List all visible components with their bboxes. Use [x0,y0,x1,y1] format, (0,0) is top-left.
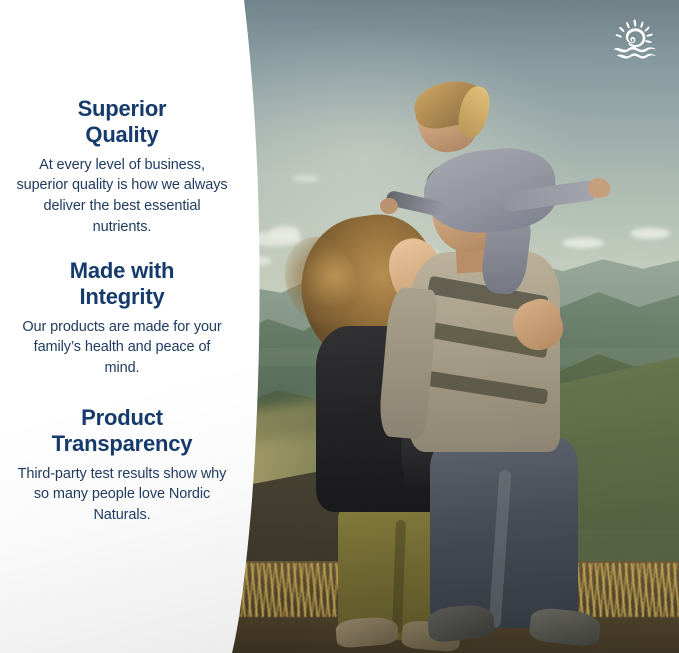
value-prop-made-with-integrity: Made with Integrity Our products are mad… [16,258,228,379]
value-prop-product-transparency: Product Transparency Third-party test re… [16,405,228,526]
cloud-icon [292,175,320,182]
family-on-mountain-photo [232,0,679,653]
value-prop-body: Our products are made for your family’s … [16,317,228,379]
value-prop-heading: Superior Quality [16,96,228,148]
heading-line-1: Superior [78,96,167,121]
heading-line-2: Quality [85,122,158,147]
cloud-icon [562,238,604,248]
value-prop-heading: Product Transparency [16,405,228,457]
sun-wave-logo-icon [609,18,661,62]
heading-line-1: Product [81,405,163,430]
heading-line-1: Made with [70,258,175,283]
value-prop-heading: Made with Integrity [16,258,228,310]
nordic-naturals-logo [609,18,661,62]
heading-line-2: Transparency [52,431,193,456]
heading-line-2: Integrity [80,284,165,309]
brand-value-banner: Superior Quality At every level of busin… [0,0,679,653]
child-hand-left [380,198,398,214]
value-prop-body: At every level of business, superior qua… [16,155,228,237]
cloud-icon [630,228,670,239]
cloud-icon [270,226,300,240]
value-prop-body: Third-party test results show why so man… [16,464,228,526]
value-props-content: Superior Quality At every level of busin… [0,0,244,653]
value-prop-superior-quality: Superior Quality At every level of busin… [16,96,228,237]
